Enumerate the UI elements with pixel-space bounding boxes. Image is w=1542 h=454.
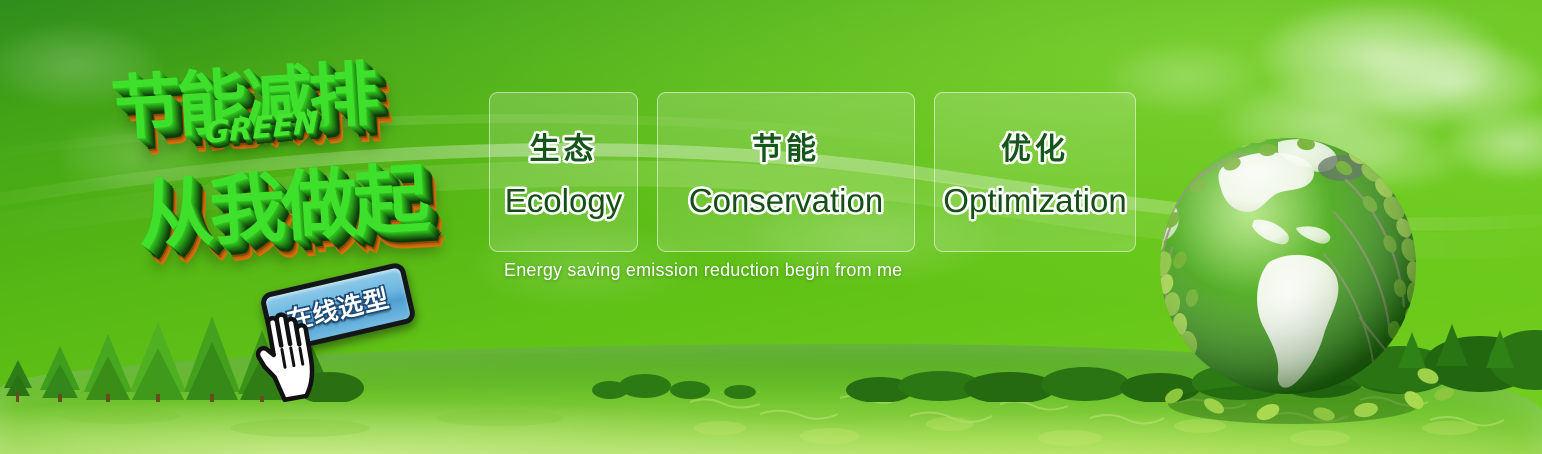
eco-promo-banner: 节能减排 GREEN 从我做起 在线选型 生态 Ecology 节能 Conse…	[0, 0, 1542, 454]
feature-card-title-en: Optimization	[943, 182, 1126, 220]
feature-card-title-cn: 优化	[1001, 124, 1069, 168]
green-leafy-globe-icon	[1128, 108, 1458, 438]
shrub-icon	[592, 374, 756, 399]
feature-card-optimization[interactable]: 优化 Optimization	[934, 92, 1136, 252]
headline-line-bottom: 从我做起	[134, 137, 428, 264]
feature-card-ecology[interactable]: 生态 Ecology	[489, 92, 638, 252]
feature-card-title-en: Conservation	[689, 182, 883, 220]
headline-3d-text: 节能减排 GREEN 从我做起	[90, 24, 523, 274]
feature-card-title-cn: 生态	[530, 124, 598, 168]
pointing-hand-cursor-icon	[243, 300, 339, 410]
feature-card-conservation[interactable]: 节能 Conservation	[657, 92, 915, 252]
banner-tagline: Energy saving emission reduction begin f…	[504, 260, 902, 281]
feature-card-title-cn: 节能	[752, 124, 820, 168]
feature-card-title-en: Ecology	[505, 182, 622, 220]
feature-card-list: 生态 Ecology 节能 Conservation 优化 Optimizati…	[489, 92, 1136, 252]
